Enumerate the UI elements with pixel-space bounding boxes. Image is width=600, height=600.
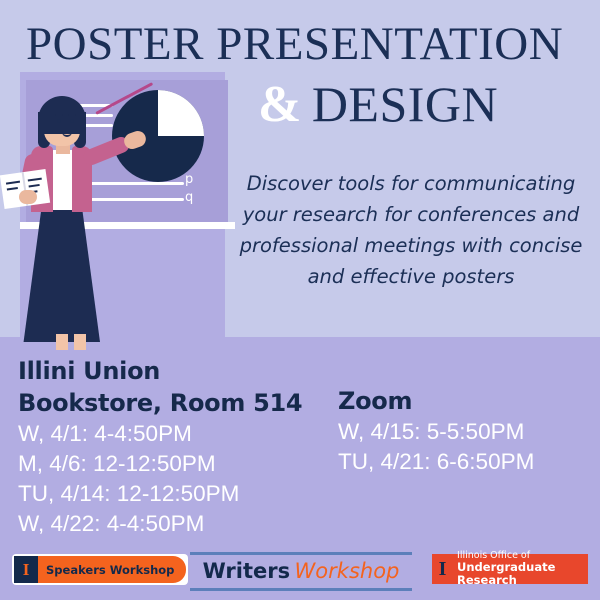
poster-canvas: POSTER PRESENTATION &DESIGN Discover too…	[0, 0, 600, 600]
page-title-line-2: &DESIGN	[258, 76, 598, 133]
venue-session-item: W, 4/22: 4-4:50PM	[18, 509, 338, 539]
presenter-leg	[56, 334, 68, 350]
presenter-illustration: q p	[0, 72, 235, 340]
undergraduate-research-text: Illinois Office of Undergraduate Researc…	[453, 551, 588, 587]
footer-logo-bar: I Speakers Workshop Writers Workshop I I…	[0, 550, 600, 595]
presenter-eyebrow	[68, 114, 76, 116]
zoom-session-item: W, 4/15: 5-5:50PM	[338, 417, 593, 447]
venue-session-item: M, 4/6: 12-12:50PM	[18, 449, 338, 479]
zoom-session-item: TU, 4/21: 6-6:50PM	[338, 447, 593, 477]
venue-heading-line-2: Bookstore, Room 514	[18, 387, 338, 419]
page-title-line-1: POSTER PRESENTATION	[26, 18, 586, 70]
undergraduate-research-line-2: Undergraduate Research	[457, 561, 588, 587]
board-glyph-p: p	[185, 190, 193, 205]
zoom-schedule-column: Zoom W, 4/15: 5-5:50PM TU, 4/21: 6-6:50P…	[338, 385, 593, 477]
speakers-workshop-label: Speakers Workshop	[38, 556, 186, 583]
venue-schedule-column: Illini Union Bookstore, Room 514 W, 4/1:…	[18, 355, 338, 539]
presenter-eyebrow	[55, 114, 63, 116]
paper-text-line	[29, 184, 40, 188]
writers-workshop-word-1: Writers	[203, 559, 291, 583]
board-text-line	[78, 198, 184, 201]
paper-text-line	[6, 181, 20, 185]
illinois-block-i-icon: I	[14, 556, 38, 583]
presenter-leg	[74, 334, 86, 350]
description-text: Discover tools for communicating your re…	[228, 168, 594, 292]
page-title-design: DESIGN	[312, 76, 498, 132]
ampersand-glyph: &	[258, 76, 312, 133]
presenter-eye	[57, 119, 61, 123]
paper-text-line	[28, 178, 42, 182]
presenter-hand-left	[19, 190, 37, 204]
logo-undergraduate-research[interactable]: I Illinois Office of Undergraduate Resea…	[432, 554, 588, 584]
venue-session-item: W, 4/1: 4-4:50PM	[18, 419, 338, 449]
illinois-block-i-icon: I	[432, 554, 453, 584]
venue-session-item: TU, 4/14: 12-12:50PM	[18, 479, 338, 509]
zoom-heading: Zoom	[338, 385, 593, 417]
logo-speakers-workshop[interactable]: I Speakers Workshop	[12, 554, 188, 585]
paper-text-line	[7, 187, 18, 191]
writers-workshop-word-2: Workshop	[295, 559, 400, 583]
presenter-eye	[70, 119, 74, 123]
venue-heading-line-1: Illini Union	[18, 355, 338, 387]
speakers-workshop-pill: I Speakers Workshop	[14, 556, 186, 583]
board-glyph-q: q	[185, 172, 193, 187]
logo-writers-workshop[interactable]: Writers Workshop	[190, 552, 412, 591]
